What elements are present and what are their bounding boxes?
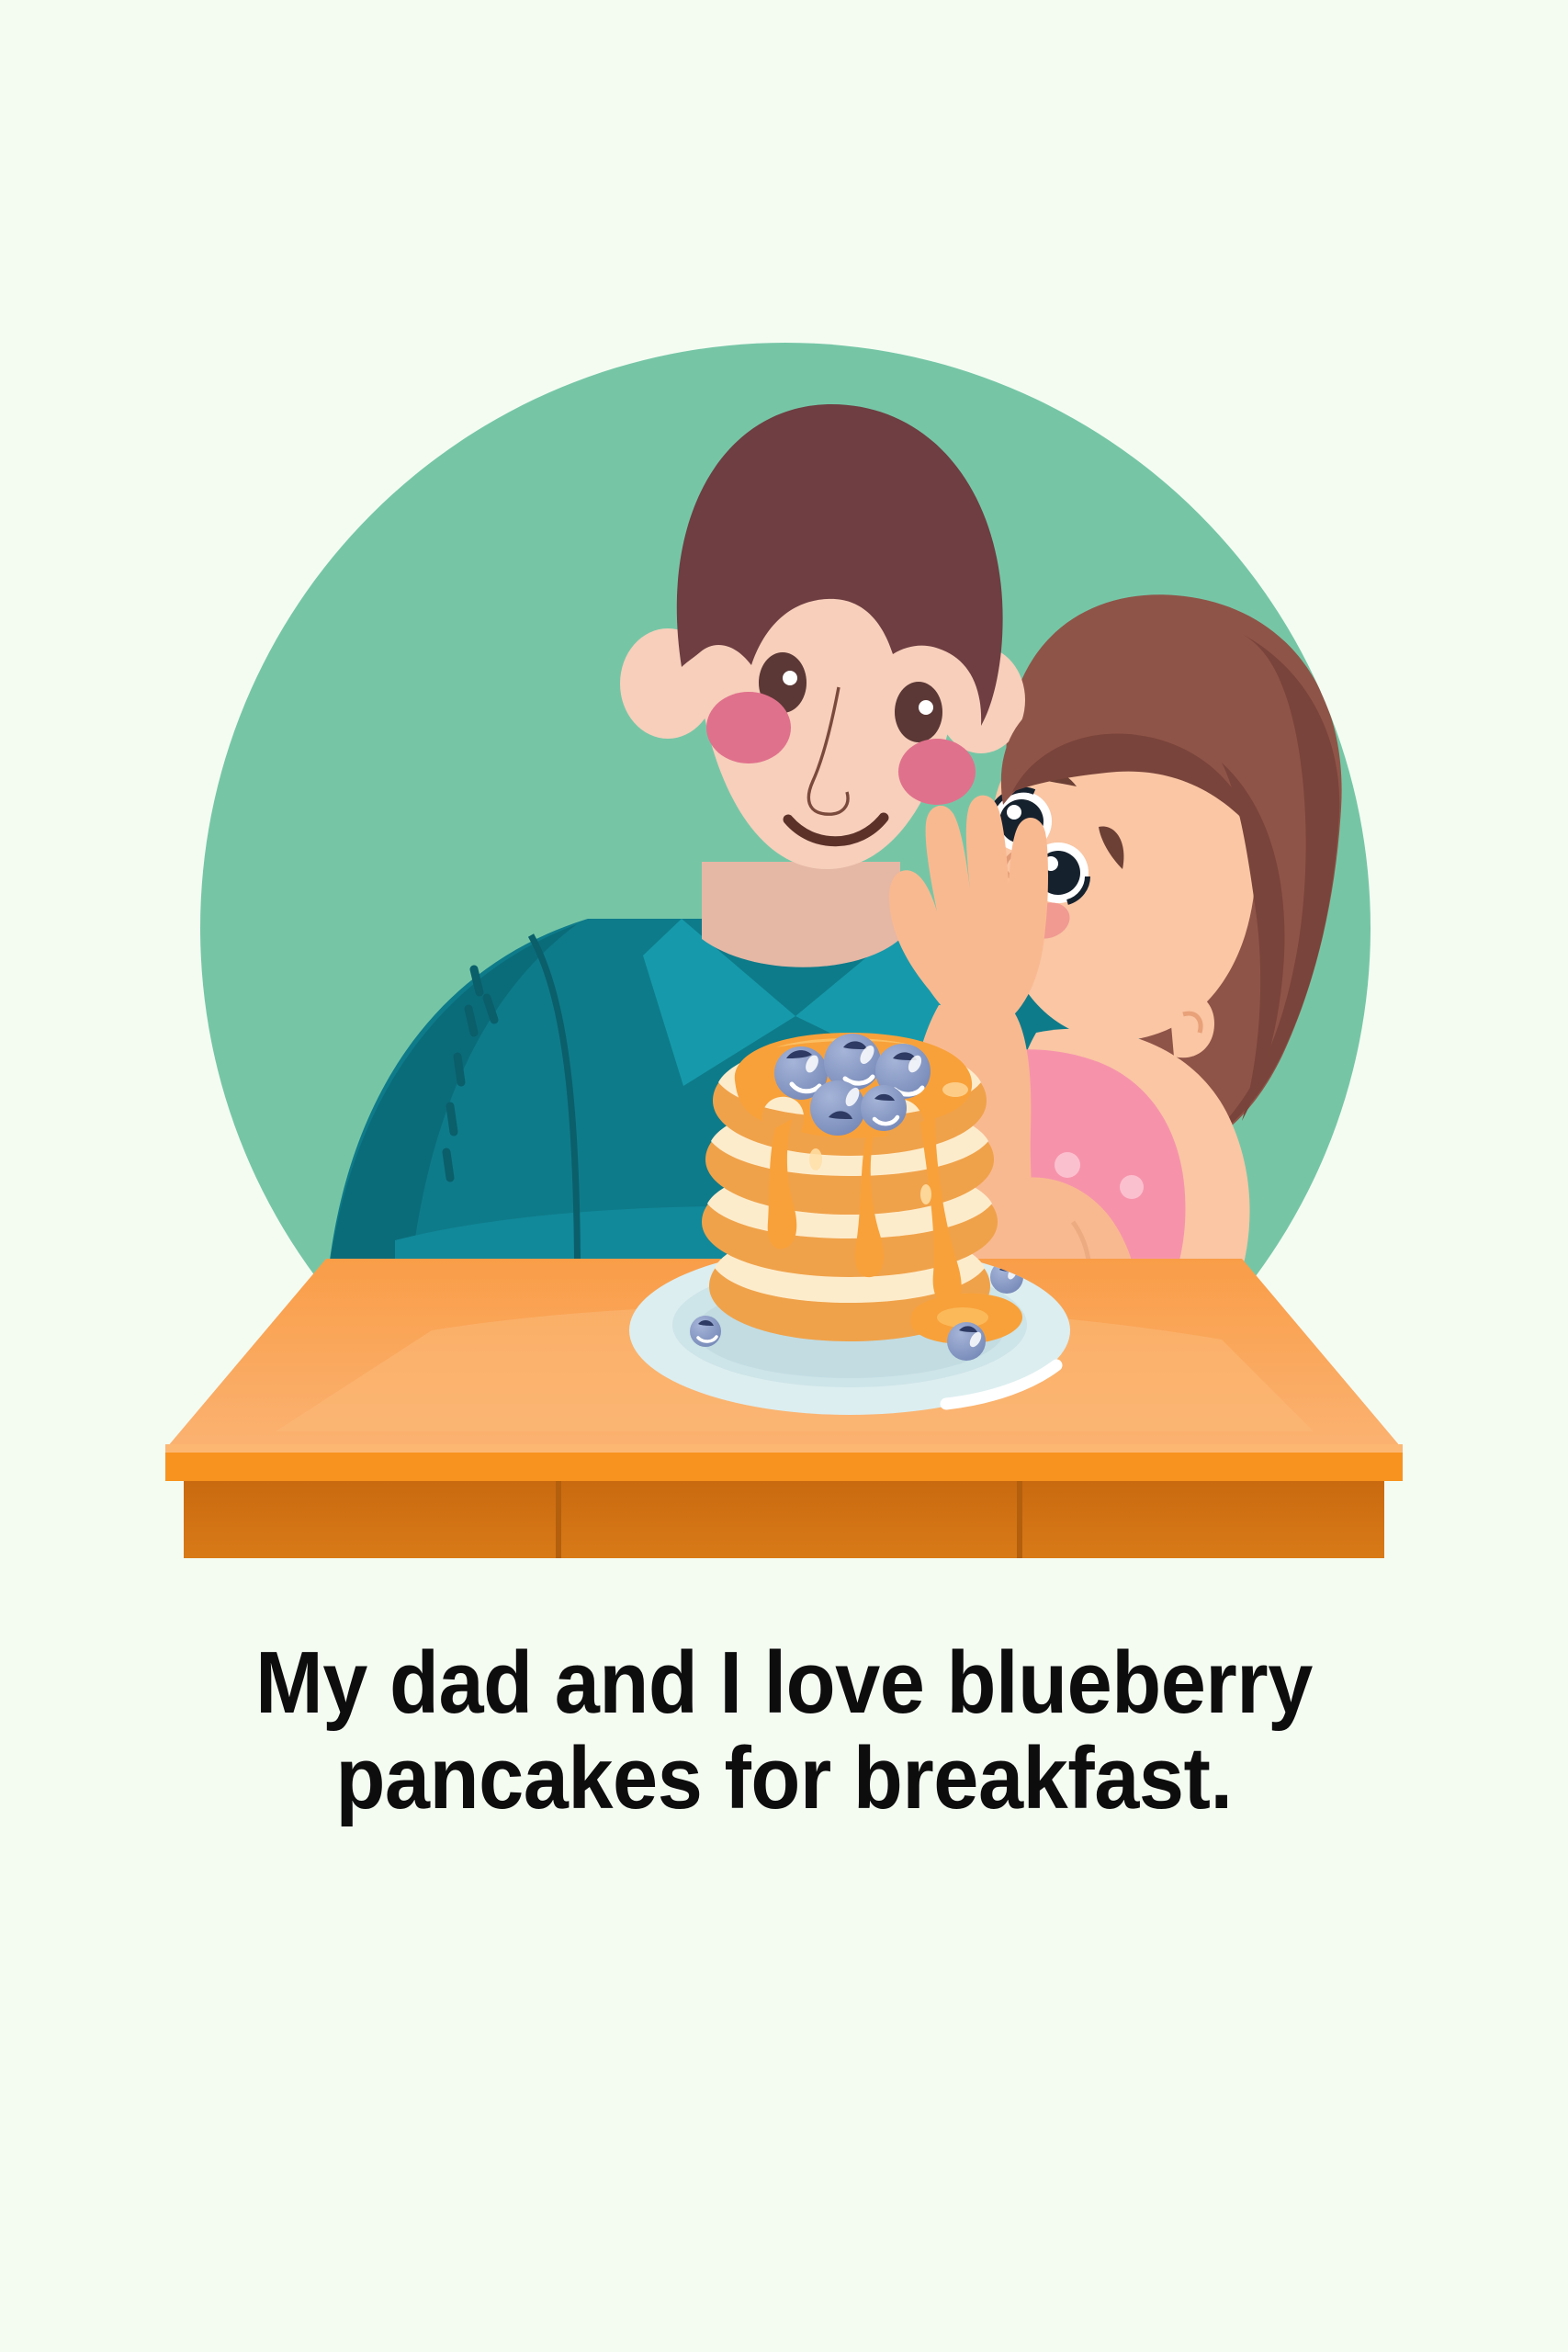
illustration-area bbox=[0, 0, 1568, 1562]
dad-right-cheek bbox=[898, 739, 976, 805]
illustration-card: My dad and I love blueberry pancakes for… bbox=[0, 0, 1568, 2352]
blueberry bbox=[947, 1322, 986, 1361]
dad-right-eye bbox=[895, 682, 942, 742]
caption-line-1: My dad and I love blueberry bbox=[62, 1635, 1505, 1731]
caption-line-2: pancakes for breakfast. bbox=[62, 1731, 1505, 1826]
blueberry bbox=[861, 1085, 907, 1131]
scene-illustration bbox=[0, 0, 1568, 1562]
caption-block: My dad and I love blueberry pancakes for… bbox=[0, 1635, 1568, 1826]
table-apron bbox=[184, 1481, 1384, 1558]
blueberry bbox=[690, 1316, 721, 1347]
dad-left-cheek bbox=[706, 692, 791, 763]
blueberry bbox=[810, 1080, 865, 1136]
